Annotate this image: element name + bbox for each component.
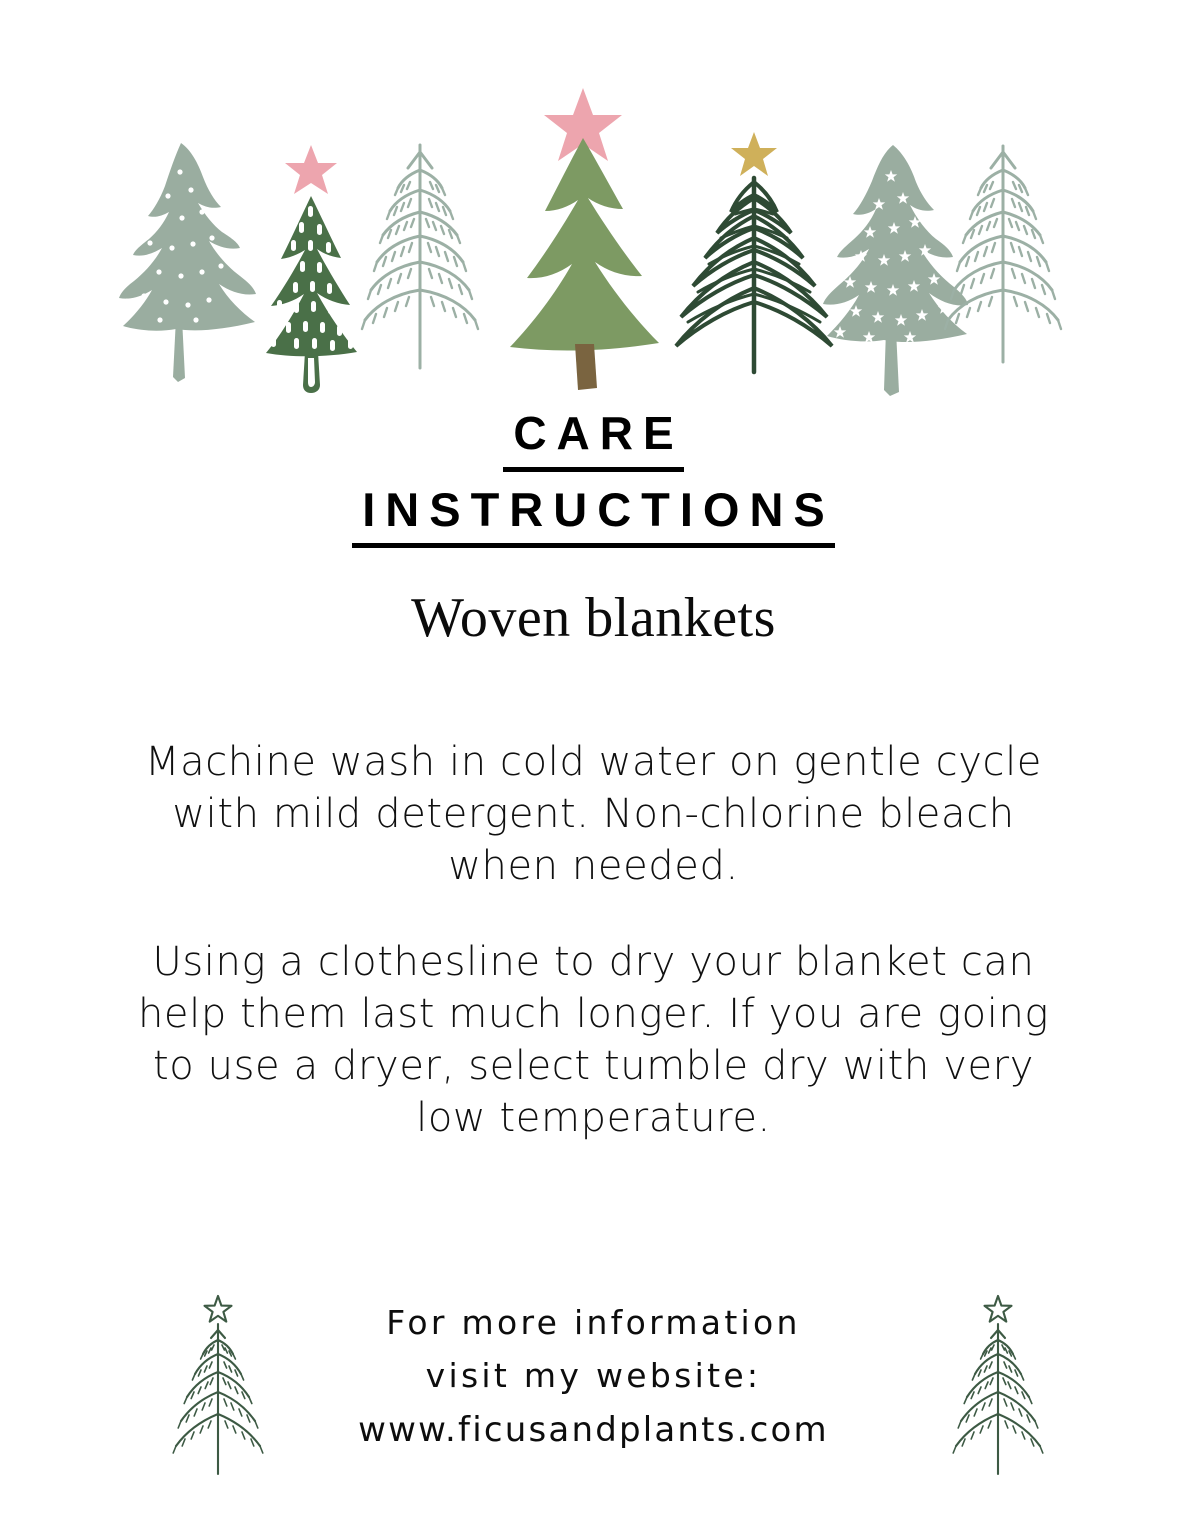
footer-line-visit-my-website: visit my website: <box>0 1349 1187 1402</box>
sage-dotted-fir-tree <box>119 143 256 382</box>
pink-star-icon <box>285 145 337 194</box>
footer-contact-block: For more information visit my website: w… <box>0 1296 1187 1458</box>
care-instructions-page: CARE INSTRUCTIONS Woven blankets Machine… <box>0 0 1187 1534</box>
page-title: CARE INSTRUCTIONS <box>0 404 1187 555</box>
title-line-care: CARE <box>503 404 683 472</box>
footer-website-url[interactable]: www.ficusandplants.com <box>0 1403 1187 1458</box>
forest-dashed-tree <box>266 145 357 393</box>
title-line-instructions: INSTRUCTIONS <box>352 479 835 548</box>
dark-sketch-pine-tree <box>676 132 832 372</box>
instruction-paragraph-washing: Machine wash in cold water on gentle cyc… <box>120 736 1067 892</box>
tree-trunk <box>575 344 597 390</box>
sage-star-dotted-tree <box>823 145 968 396</box>
instruction-paragraph-drying: Using a clothesline to dry your blanket … <box>120 936 1067 1144</box>
sage-feathered-outline-tree <box>362 145 478 368</box>
care-instructions-body: Machine wash in cold water on gentle cyc… <box>120 736 1067 1144</box>
subtitle-product-type: Woven blankets <box>0 588 1187 650</box>
sage-feathered-outline-tree-right <box>945 146 1061 362</box>
header-tree-illustration-band <box>0 0 1187 400</box>
gold-star-icon <box>731 132 777 176</box>
large-green-fir-tree <box>510 88 659 390</box>
footer-line-for-more-information: For more information <box>0 1296 1187 1349</box>
